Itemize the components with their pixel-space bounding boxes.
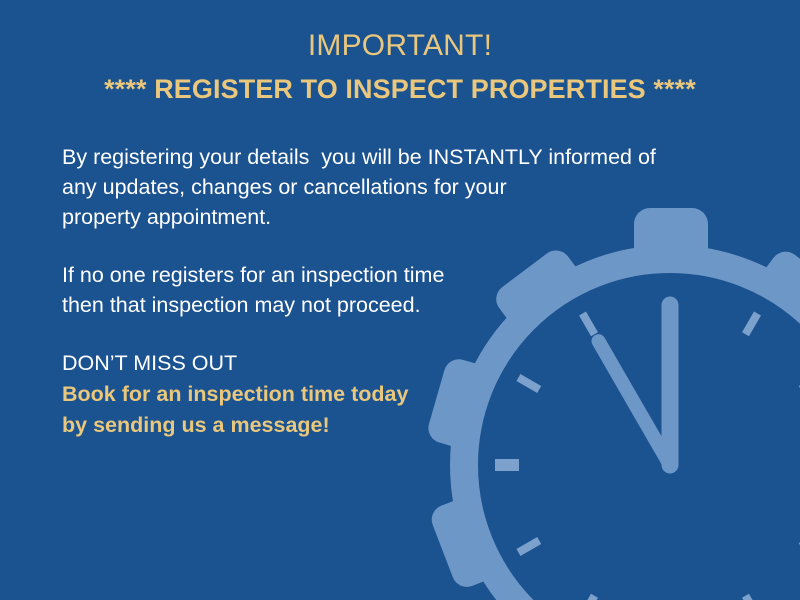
cta-book-inspection: Book for an inspection time today by sen… <box>62 379 702 441</box>
heading-block: IMPORTANT! **** REGISTER TO INSPECT PROP… <box>0 26 800 109</box>
cta-spacer <box>62 320 702 348</box>
promo-slide: IMPORTANT! **** REGISTER TO INSPECT PROP… <box>0 0 800 600</box>
cta-dont-miss-out: DON’T MISS OUT <box>62 348 702 379</box>
body-block: By registering your details you will be … <box>62 142 702 441</box>
heading-register-to-inspect: **** REGISTER TO INSPECT PROPERTIES **** <box>0 69 800 109</box>
paragraph-no-registrations: If no one registers for an inspection ti… <box>62 260 702 320</box>
paragraph-spacer <box>62 232 702 260</box>
paragraph-registering-details: By registering your details you will be … <box>62 142 702 232</box>
slide-content: IMPORTANT! **** REGISTER TO INSPECT PROP… <box>0 0 800 600</box>
heading-important: IMPORTANT! <box>0 26 800 66</box>
